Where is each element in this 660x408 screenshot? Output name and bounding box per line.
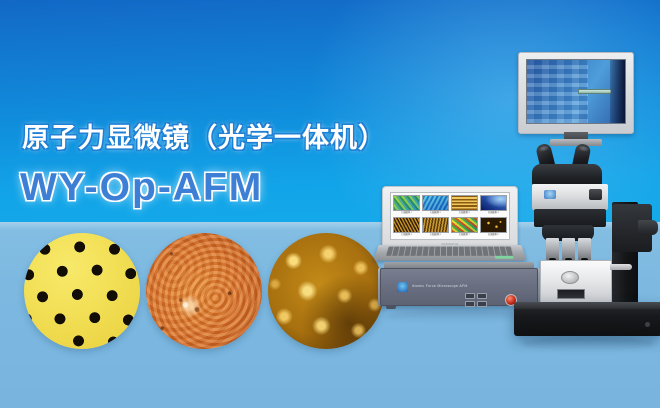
scan-thumbnail: 扫描图像 6 [422, 217, 449, 237]
scan-image-1 [393, 195, 420, 211]
port-icon[interactable] [477, 301, 487, 307]
sample-image-dot-array [24, 233, 140, 349]
scan-caption-3: 扫描图像 3 [451, 211, 478, 215]
afm-scanner-stage [540, 260, 612, 304]
controller-brand-label: Atomic Force Microscope AFM [412, 284, 468, 288]
scan-image-6 [422, 217, 449, 233]
scan-image-5 [393, 217, 420, 233]
scan-thumbnail: 扫描图像 5 [393, 217, 420, 237]
sample-image-terrace-topography [146, 233, 262, 349]
scan-caption-2: 扫描图像 2 [422, 211, 449, 215]
port-icon[interactable] [465, 301, 475, 307]
product-model: WY-Op-AFM [20, 166, 263, 210]
binocular-head [532, 164, 602, 186]
scan-thumbnail: 扫描图像 1 [393, 195, 420, 215]
controller-foot [386, 305, 396, 309]
scan-image-7 [451, 217, 478, 233]
port-icon[interactable] [477, 293, 487, 299]
monitor-optical-view [526, 59, 626, 124]
scan-thumbnail: 扫描图像 7 [451, 217, 478, 237]
scan-caption-6: 扫描图像 6 [422, 233, 449, 237]
scan-image-2 [422, 195, 449, 211]
scan-thumbnail: 扫描图像 2 [422, 195, 449, 215]
controller-port-bank[interactable] [465, 293, 487, 307]
lcd-monitor [518, 52, 634, 134]
product-banner: 原子力显微镜（光学一体机） WY-Op-AFM 扫描图像 1 扫描图像 2 扫描… [0, 0, 660, 408]
scan-caption-5: 扫描图像 5 [393, 233, 420, 237]
illuminator-barrel [638, 220, 658, 235]
brand-logo-icon [397, 282, 408, 292]
stage-translation-arm[interactable] [610, 264, 632, 270]
optical-afm-microscope [492, 52, 660, 342]
sample-holder-slot [557, 289, 585, 299]
focus-knob[interactable] [589, 189, 602, 200]
mounting-hole-icon [645, 322, 650, 327]
stage-adjust-dial[interactable] [561, 271, 579, 284]
page-title: 原子力显微镜（光学一体机） [22, 122, 386, 154]
granite-anti-vibration-base [514, 302, 660, 336]
scan-caption-1: 扫描图像 1 [393, 211, 420, 215]
microscope-reflection [522, 336, 654, 352]
scan-thumbnail: 扫描图像 3 [451, 195, 478, 215]
sample-image-granular [268, 233, 384, 349]
scan-caption-7: 扫描图像 7 [451, 233, 478, 237]
scan-image-3 [451, 195, 478, 211]
brand-logo-icon [544, 190, 556, 199]
port-icon[interactable] [465, 293, 475, 299]
monitor-mount-bracket [550, 139, 602, 146]
microscope-body-upper [532, 184, 608, 210]
cantilever-probe-icon [578, 89, 612, 94]
